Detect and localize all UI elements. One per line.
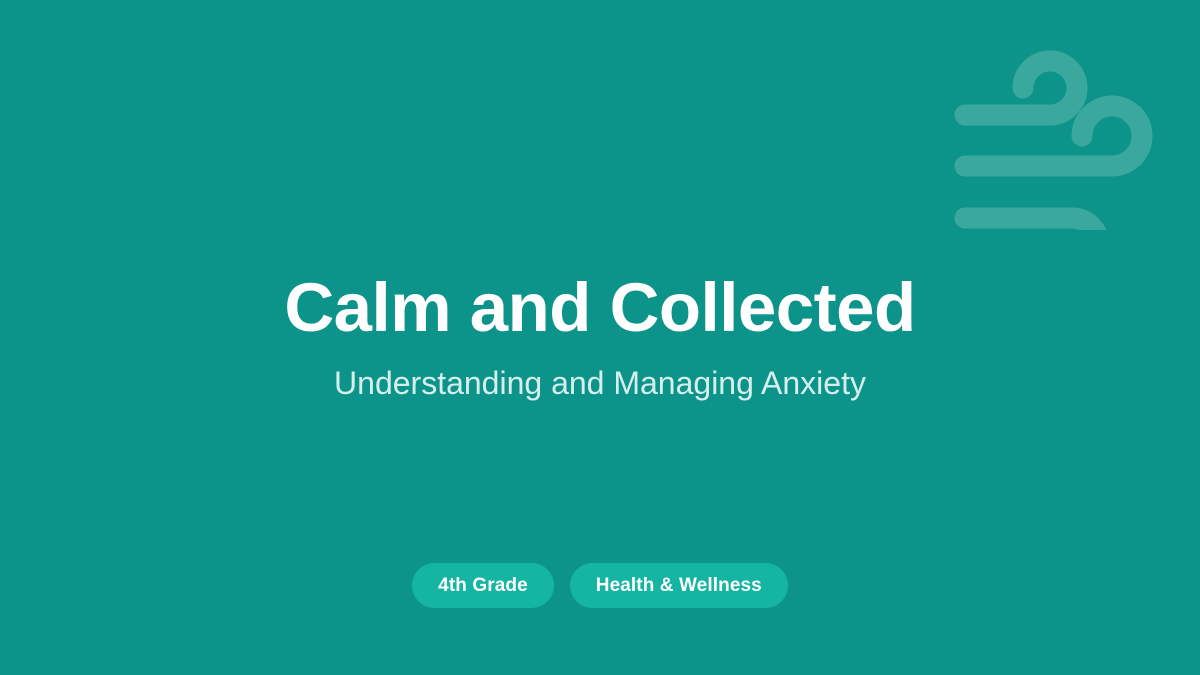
title-slide: Calm and Collected Understanding and Man… bbox=[0, 0, 1200, 675]
badge-row: 4th Grade Health & Wellness bbox=[0, 563, 1200, 608]
subject-badge: Health & Wellness bbox=[570, 563, 788, 608]
page-title: Calm and Collected bbox=[284, 273, 915, 342]
grade-level-badge: 4th Grade bbox=[412, 563, 554, 608]
page-subtitle: Understanding and Managing Anxiety bbox=[334, 342, 866, 402]
